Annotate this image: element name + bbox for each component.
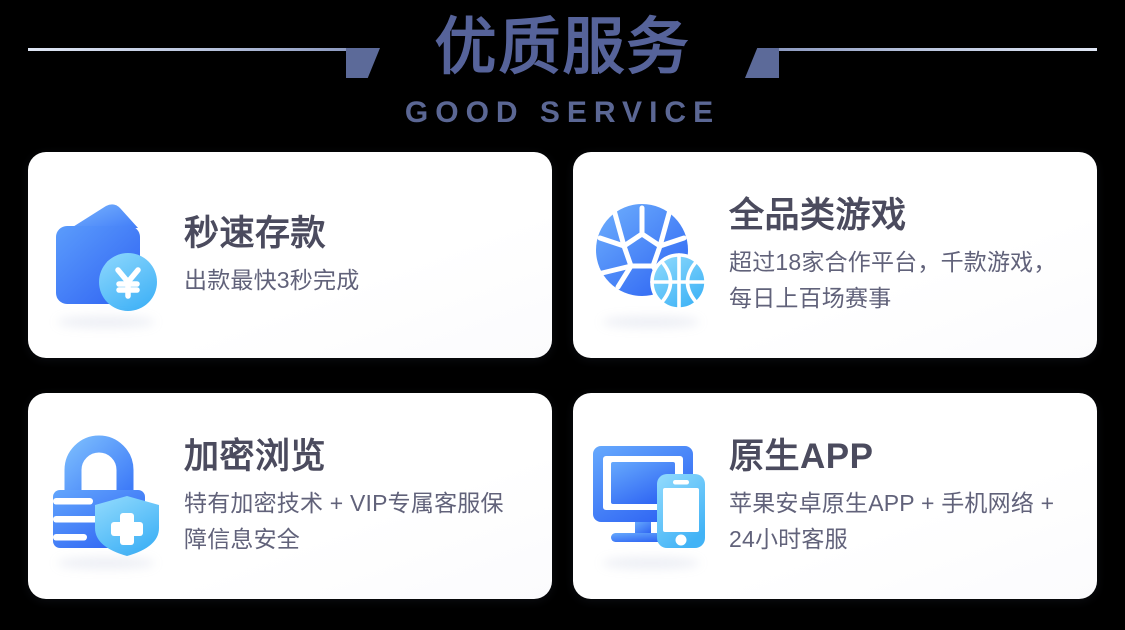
feature-card-grid: 秒速存款 出款最快3秒完成 <box>28 152 1097 605</box>
card-title: 加密浏览 <box>184 435 526 479</box>
feature-card-instant-deposit[interactable]: 秒速存款 出款最快3秒完成 <box>28 152 552 358</box>
page-subtitle: GOOD SERVICE <box>0 96 1125 130</box>
card-title: 原生APP <box>729 435 1071 479</box>
monitor-phone-icon-svg <box>589 440 713 552</box>
card-text: 全品类游戏 超过18家合作平台，千款游戏，每日上百场赛事 <box>729 194 1097 316</box>
card-text: 原生APP 苹果安卓原生APP + 手机网络 + 24小时客服 <box>729 435 1097 557</box>
promo-banner: 优质服务 GOOD SERVICE <box>0 0 1125 630</box>
card-title: 全品类游戏 <box>729 194 1071 238</box>
soccer-basketball-icon-svg <box>590 196 712 314</box>
card-description: 超过18家合作平台，千款游戏，每日上百场赛事 <box>729 244 1071 316</box>
card-text: 秒速存款 出款最快3秒完成 <box>184 212 552 298</box>
card-description: 出款最快3秒完成 <box>184 262 526 298</box>
card-text: 加密浏览 特有加密技术 + VIP专属客服保障信息安全 <box>184 435 552 557</box>
wallet-yen-icon-svg <box>46 196 166 314</box>
icon-shadow <box>57 316 155 328</box>
icon-shadow <box>602 316 700 328</box>
monitor-phone-icon <box>573 393 729 599</box>
icon-shadow <box>57 557 155 569</box>
soccer-basketball-icon <box>573 152 729 358</box>
page-header: 优质服务 GOOD SERVICE <box>0 0 1125 140</box>
header-rule-right <box>779 48 1097 51</box>
wallet-yen-icon <box>28 152 184 358</box>
card-description: 特有加密技术 + VIP专属客服保障信息安全 <box>184 485 526 557</box>
feature-card-native-app[interactable]: 原生APP 苹果安卓原生APP + 手机网络 + 24小时客服 <box>573 393 1097 599</box>
card-description: 苹果安卓原生APP + 手机网络 + 24小时客服 <box>729 485 1071 557</box>
icon-shadow <box>602 557 700 569</box>
card-title: 秒速存款 <box>184 212 526 256</box>
lock-shield-icon-svg <box>47 434 165 558</box>
feature-card-encrypted-browsing[interactable]: 加密浏览 特有加密技术 + VIP专属客服保障信息安全 <box>28 393 552 599</box>
feature-card-all-category-games[interactable]: 全品类游戏 超过18家合作平台，千款游戏，每日上百场赛事 <box>573 152 1097 358</box>
lock-shield-icon <box>28 393 184 599</box>
